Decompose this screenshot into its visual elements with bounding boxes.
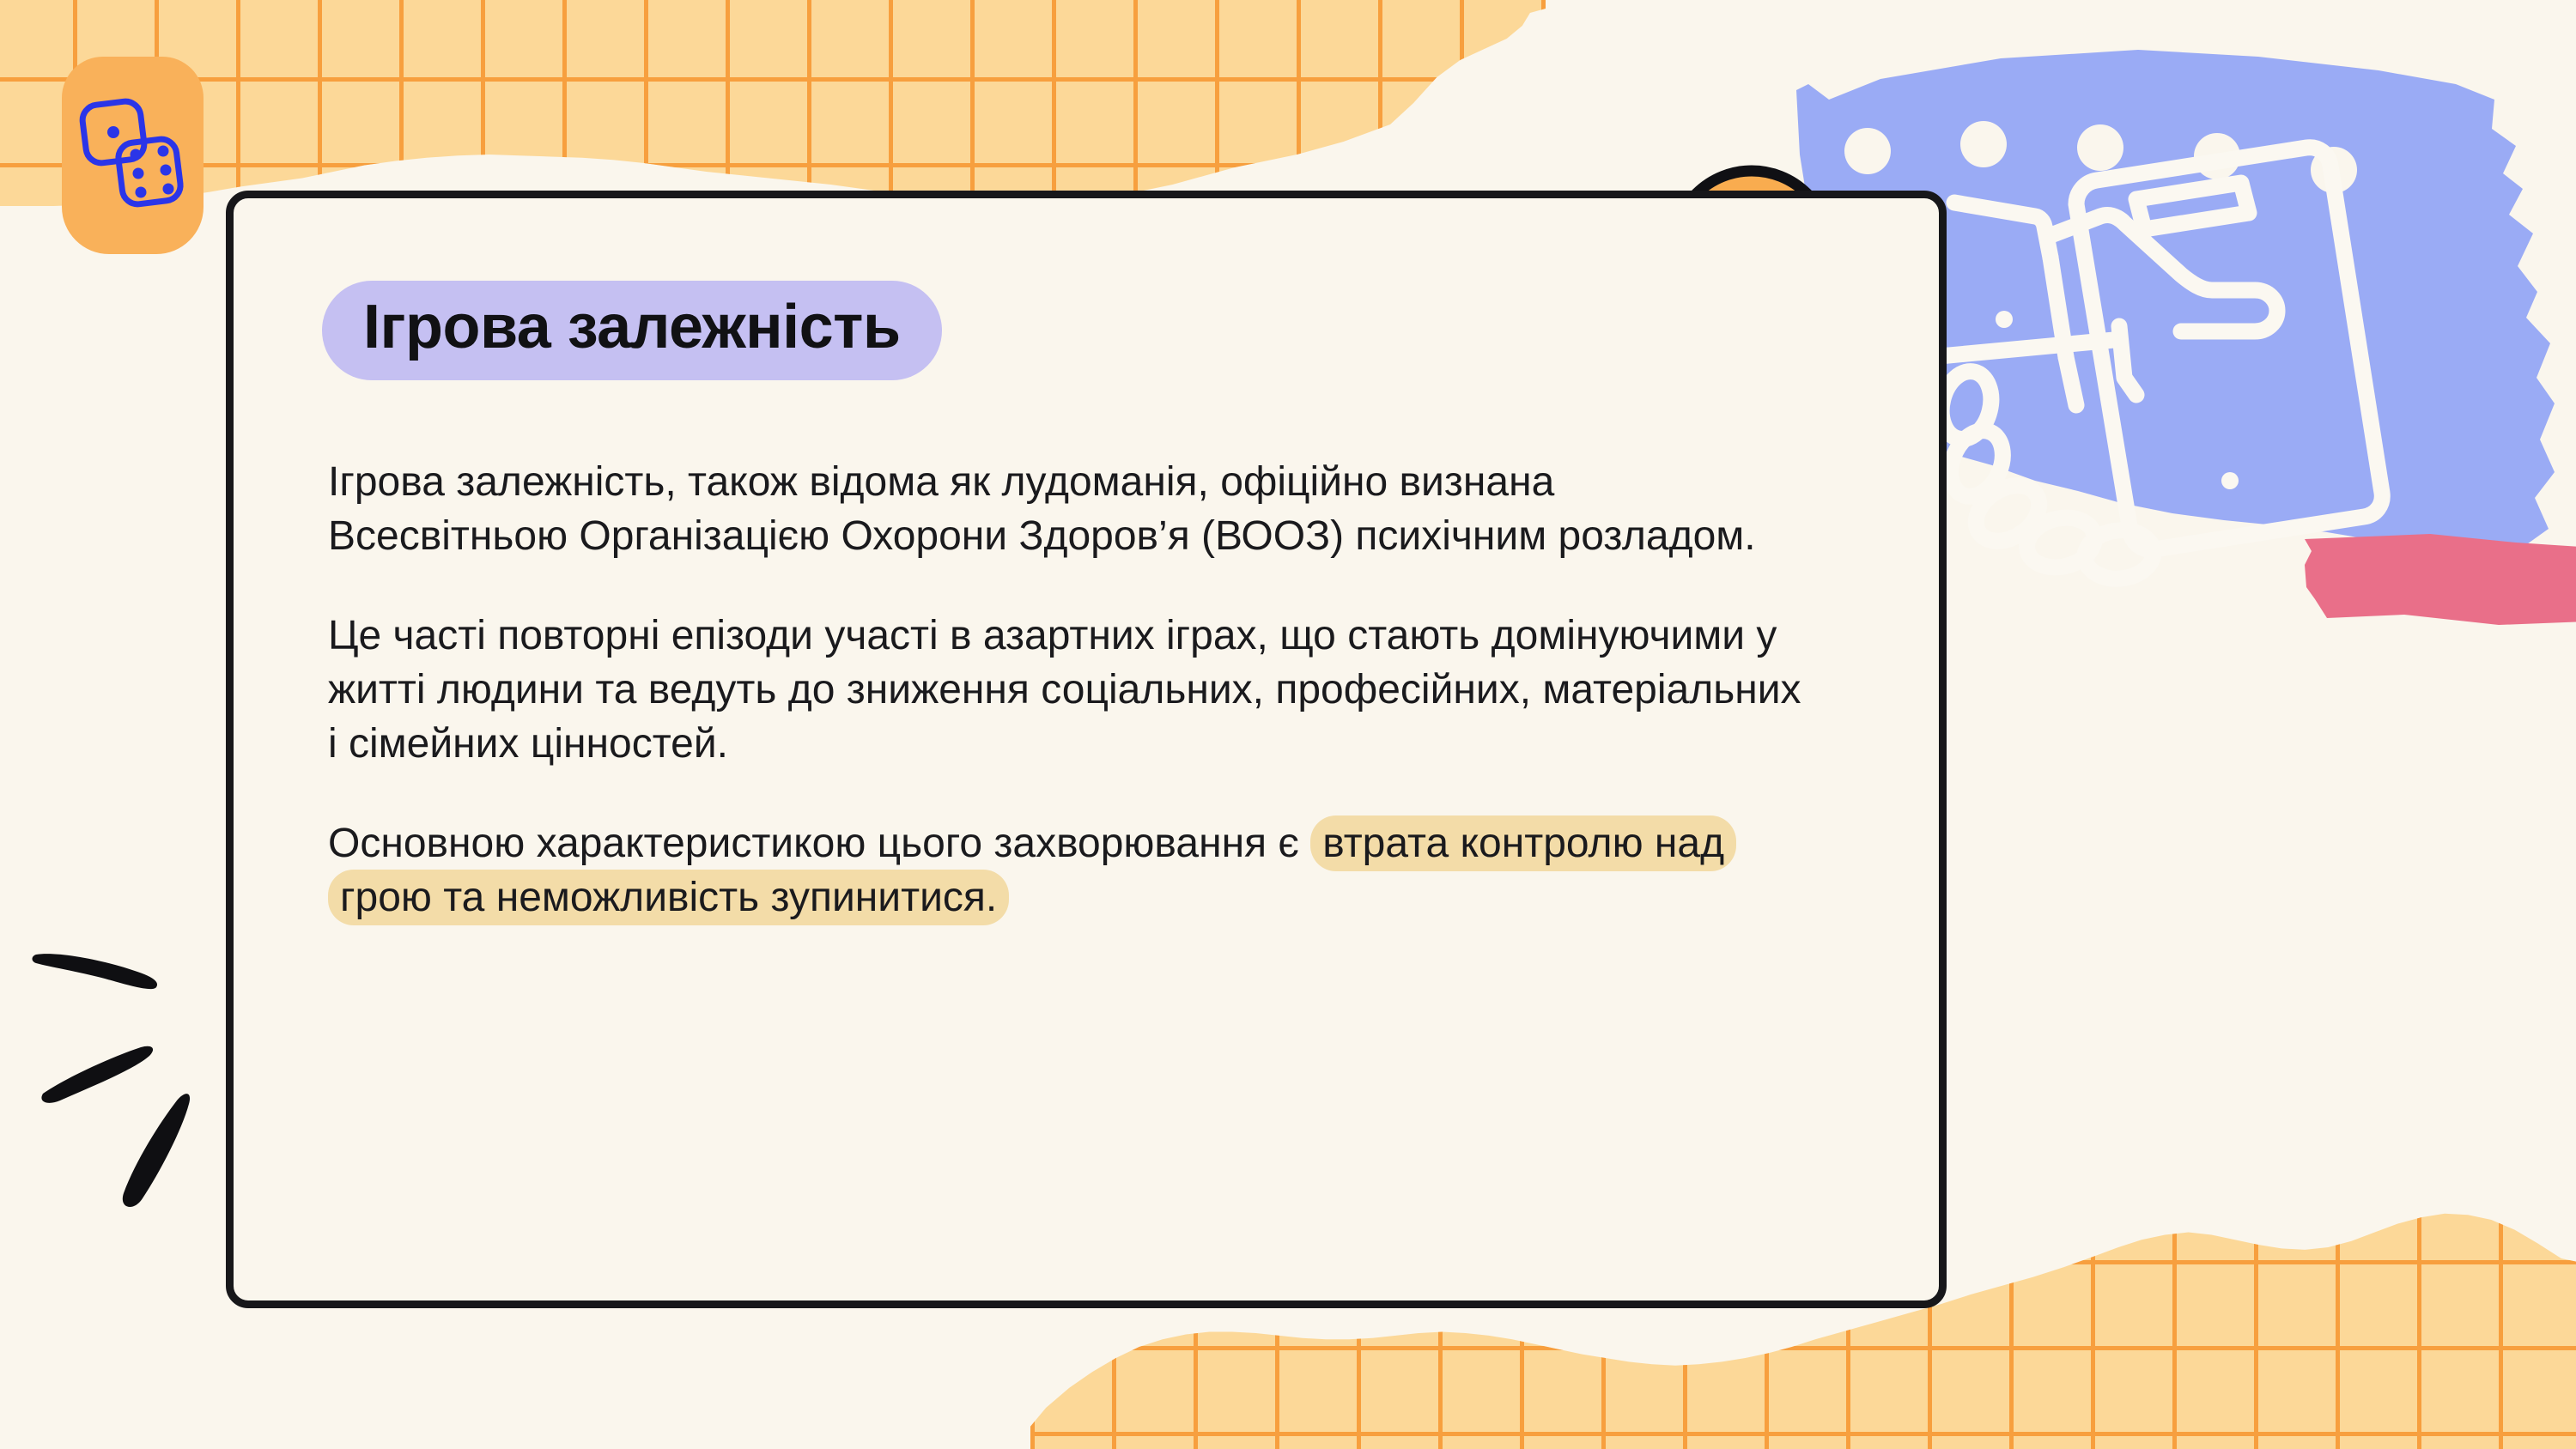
brush-stroke-marks xyxy=(9,910,258,1245)
body-text-block: Ігрова залежність, також відома як лудом… xyxy=(328,455,1805,925)
dice-badge xyxy=(62,57,204,254)
paragraph-definition: Ігрова залежність, також відома як лудом… xyxy=(328,455,1805,564)
slide-canvas: Ігрова залежність Ігрова залежність, так… xyxy=(0,0,2576,1449)
paragraph-lead-text: Основною характеристикою цього захворюва… xyxy=(328,821,1310,866)
title-text: Ігрова залежність xyxy=(363,293,901,361)
title-pill: Ігрова залежність xyxy=(322,281,942,380)
pink-tape-decoration xyxy=(2301,532,2576,635)
grid-paper-top-decoration xyxy=(0,0,1546,206)
dice-icon xyxy=(77,98,189,209)
punch-hole xyxy=(1960,121,2007,167)
punch-hole xyxy=(1844,128,1891,174)
page-title: Ігрова залежність xyxy=(322,281,942,380)
paragraph-main-characteristic: Основною характеристикою цього захворюва… xyxy=(328,816,1805,925)
paragraph-description: Це часті повторні епізоди участі в азарт… xyxy=(328,609,1805,772)
punch-hole xyxy=(2077,124,2123,171)
